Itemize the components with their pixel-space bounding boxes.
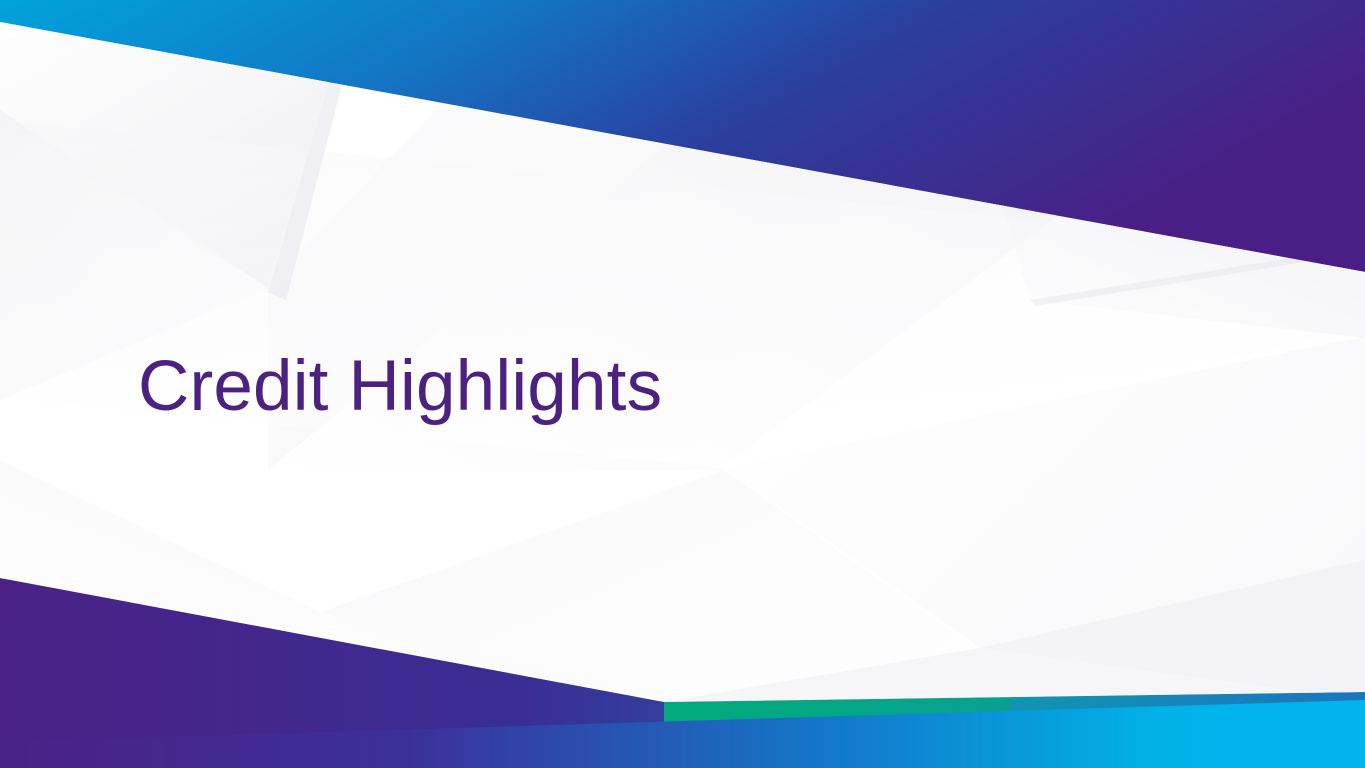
presentation-slide: Credit Highlights [0, 0, 1365, 768]
page-title[interactable]: Credit Highlights [138, 344, 662, 430]
